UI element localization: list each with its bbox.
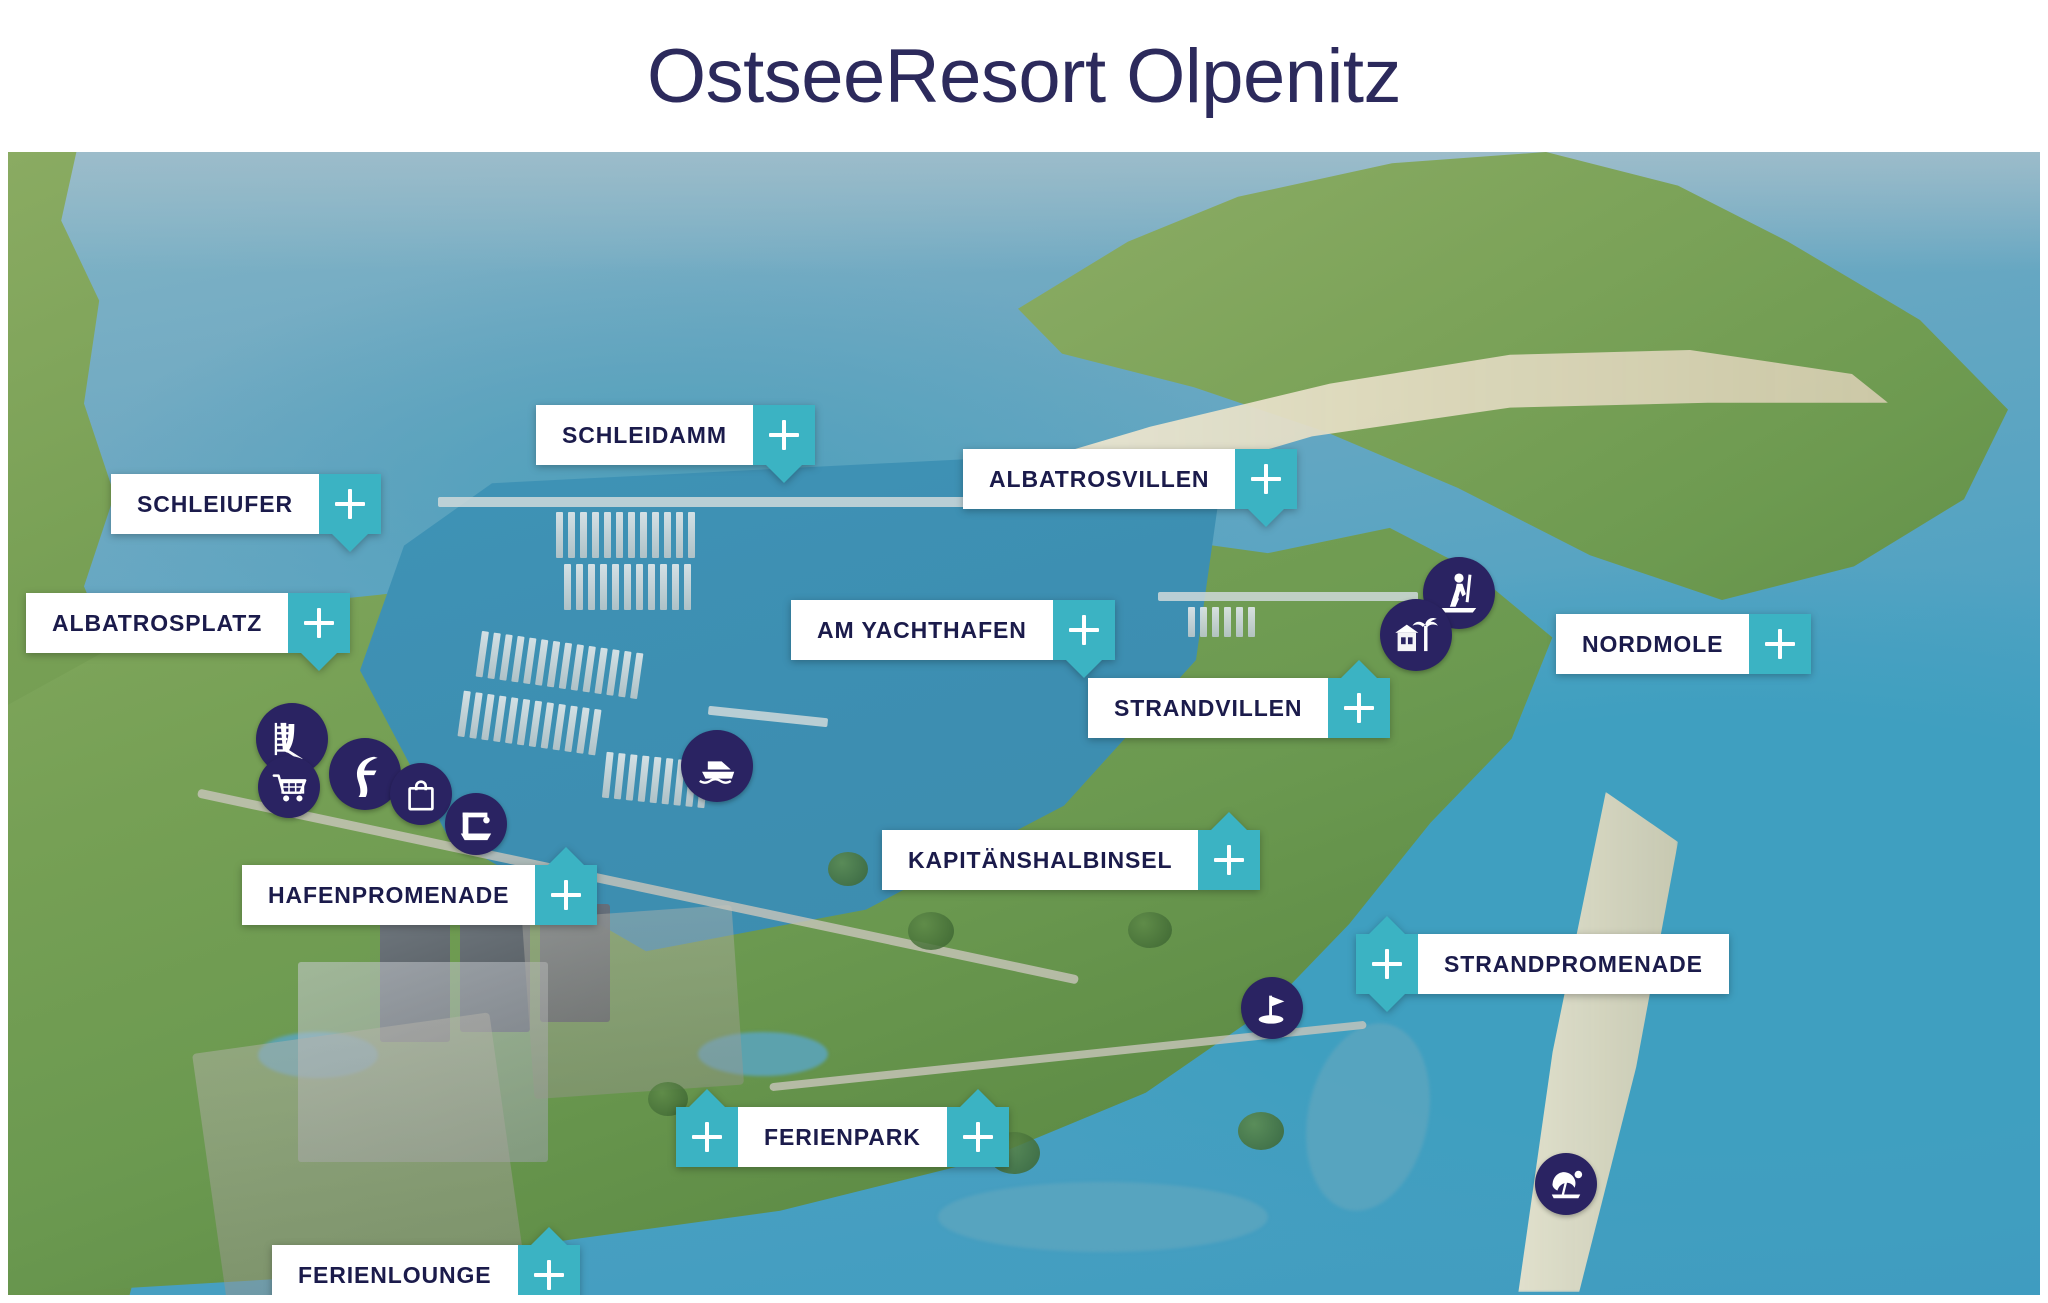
tree (1128, 912, 1172, 948)
pontoon-row-2 (564, 564, 691, 610)
hotspot-label: FERIENLOUNGE (272, 1245, 518, 1295)
hotspot-label: STRANDVILLEN (1088, 678, 1328, 738)
paddle-board-icon (1436, 570, 1482, 616)
pontoon-row-1 (556, 512, 695, 558)
plus-glyph (1765, 629, 1795, 659)
plus-glyph (963, 1122, 993, 1152)
canal-south (938, 1182, 1268, 1252)
plus-icon[interactable] (1749, 614, 1811, 674)
tree (908, 912, 954, 950)
poi-motorboat[interactable] (681, 730, 753, 802)
hotspot-schleidamm[interactable]: SCHLEIDAMM (536, 405, 815, 465)
shopping-bag-icon (402, 775, 440, 813)
title-bar: OstseeResort Olpenitz (0, 0, 2048, 152)
boat-crane-icon (457, 805, 495, 843)
resort-map[interactable]: SCHLEIDAMMALBATROSVILLENSCHLEIUFERALBATR… (8, 152, 2040, 1295)
hotspot-label: KAPITÄNSHALBINSEL (882, 830, 1198, 890)
plus-icon[interactable] (319, 474, 381, 534)
hotspot-ferienlounge[interactable]: FERIENLOUNGE (272, 1245, 580, 1295)
plus-icon[interactable] (1235, 449, 1297, 509)
hotspot-label: AM YACHTHAFEN (791, 600, 1053, 660)
plus-icon[interactable] (1053, 600, 1115, 660)
plus-icon[interactable] (753, 405, 815, 465)
poi-shopping-cart[interactable] (258, 756, 320, 818)
hotspot-ferienpark[interactable]: FERIENPARK (676, 1107, 1009, 1167)
poi-boat-crane[interactable] (445, 793, 507, 855)
hotspot-nordmole[interactable]: NORDMOLE (1556, 614, 1811, 674)
plus-glyph (551, 880, 581, 910)
poi-beach-resort[interactable] (1380, 599, 1452, 671)
hotspot-label: STRANDPROMENADE (1418, 934, 1729, 994)
parking-area-central (522, 905, 744, 1099)
page-title: OstseeResort Olpenitz (647, 33, 1401, 120)
hotspot-albatrosvillen[interactable]: ALBATROSVILLEN (963, 449, 1297, 509)
pier-east (1158, 592, 1418, 601)
hotspot-hafenpromenade[interactable]: HAFENPROMENADE (242, 865, 597, 925)
golf-flag-icon (1253, 989, 1291, 1027)
hotspot-label: NORDMOLE (1556, 614, 1749, 674)
motorboat-icon (694, 743, 740, 789)
page-root: OstseeResort Olpenitz (0, 0, 2048, 1303)
plus-glyph (1344, 693, 1374, 723)
beach-resort-icon (1393, 612, 1439, 658)
plus-glyph (692, 1122, 722, 1152)
plus-glyph (1251, 464, 1281, 494)
plus-glyph (335, 489, 365, 519)
plus-icon[interactable] (1328, 678, 1390, 738)
f-logo-icon (342, 751, 388, 797)
hotspot-label: FERIENPARK (738, 1107, 947, 1167)
plus-glyph (769, 420, 799, 450)
plus-glyph (1069, 615, 1099, 645)
plus-icon[interactable] (535, 865, 597, 925)
hotspot-label: ALBATROSVILLEN (963, 449, 1235, 509)
pontoon-row-6 (1188, 607, 1255, 637)
hotspot-am-yachthafen[interactable]: AM YACHTHAFEN (791, 600, 1115, 660)
hotspot-strandvillen[interactable]: STRANDVILLEN (1088, 678, 1390, 738)
shopping-cart-icon (270, 768, 308, 806)
pier-north (438, 497, 998, 507)
poi-beach-umbrella[interactable] (1535, 1153, 1597, 1215)
plus-glyph (304, 608, 334, 638)
hotspot-label: SCHLEIUFER (111, 474, 319, 534)
hotspot-strandpromenade[interactable]: STRANDPROMENADE (1356, 934, 1729, 994)
hotspot-label: ALBATROSPLATZ (26, 593, 288, 653)
plus-glyph (1214, 845, 1244, 875)
plus-icon[interactable] (676, 1107, 738, 1167)
beach-umbrella-icon (1547, 1165, 1585, 1203)
plus-icon[interactable] (1198, 830, 1260, 890)
plus-icon[interactable] (288, 593, 350, 653)
hotspot-schleiufer[interactable]: SCHLEIUFER (111, 474, 381, 534)
plus-icon[interactable] (947, 1107, 1009, 1167)
hotspot-kapitaenshalbinsel[interactable]: KAPITÄNSHALBINSEL (882, 830, 1260, 890)
poi-golf[interactable] (1241, 977, 1303, 1039)
plus-glyph (534, 1260, 564, 1290)
plus-icon[interactable] (1356, 934, 1418, 994)
tree (1238, 1112, 1284, 1150)
tree (828, 852, 868, 886)
hotspot-label: SCHLEIDAMM (536, 405, 753, 465)
poi-shopping-bag[interactable] (390, 763, 452, 825)
water-slide-icon (269, 716, 315, 762)
hotspot-albatrosplatz[interactable]: ALBATROSPLATZ (26, 593, 350, 653)
plus-glyph (1372, 949, 1402, 979)
hotspot-label: HAFENPROMENADE (242, 865, 535, 925)
plus-icon[interactable] (518, 1245, 580, 1295)
